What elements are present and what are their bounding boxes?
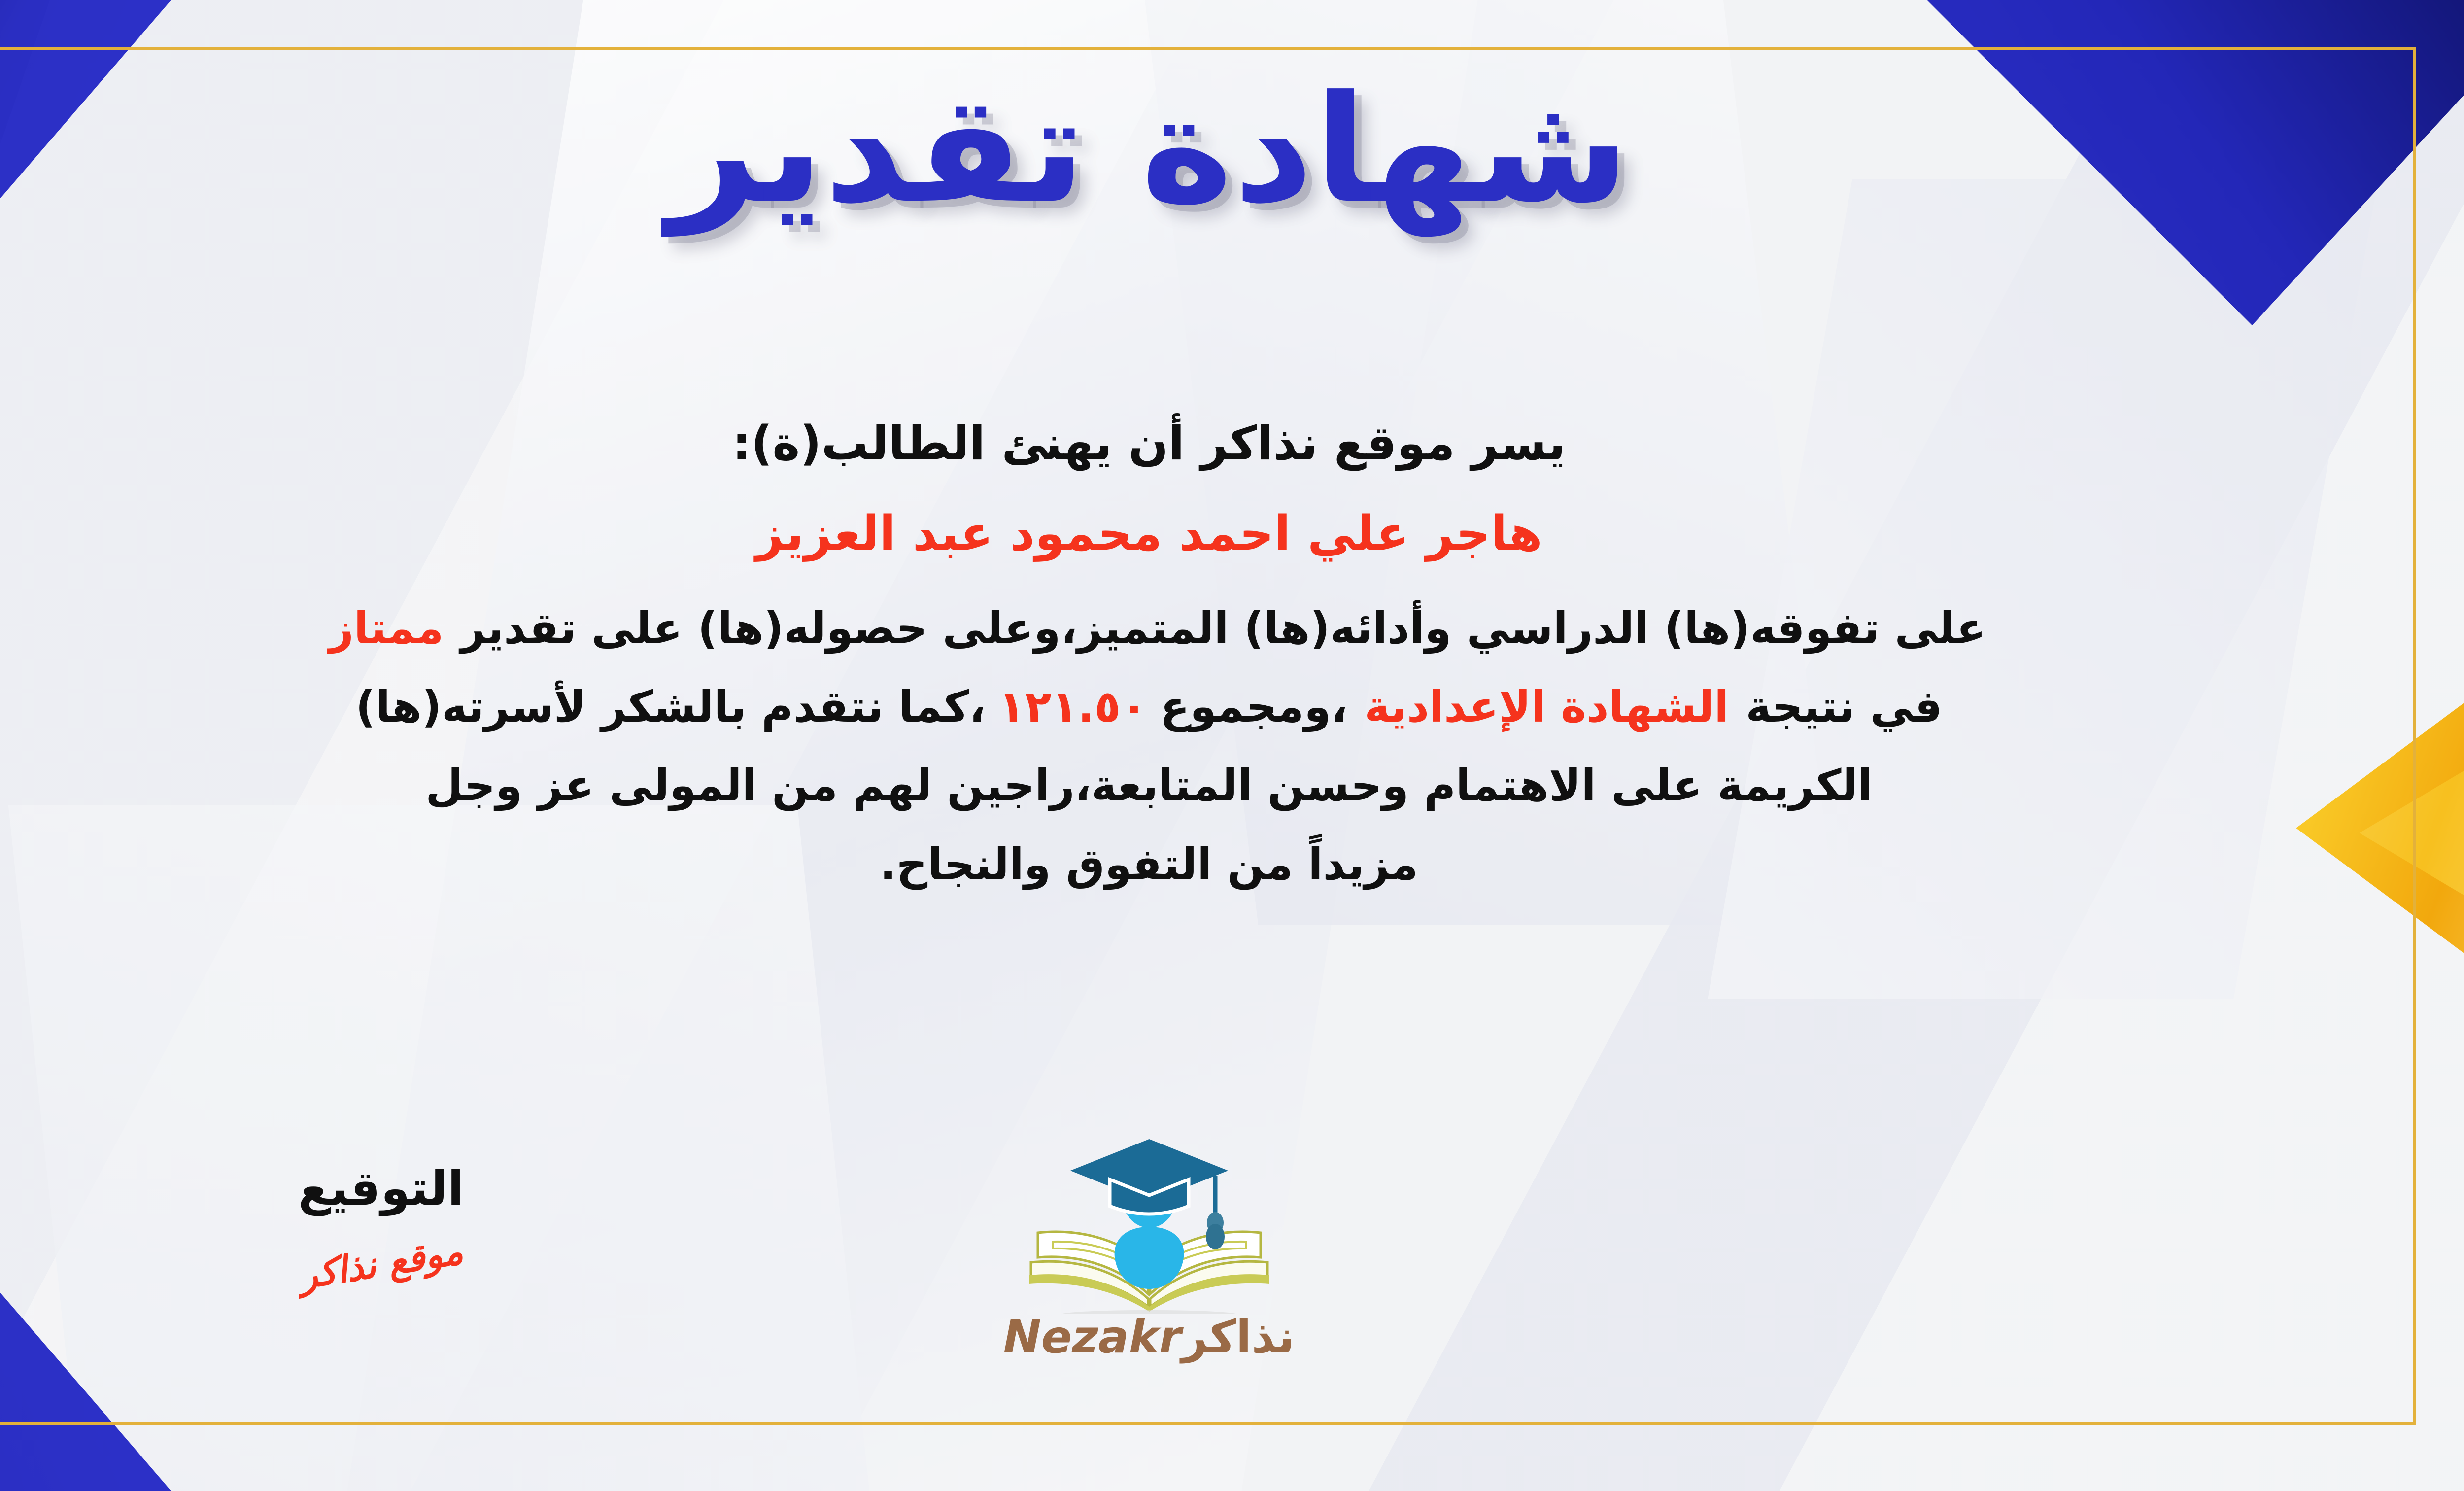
certificate-page: شهادة تقدير يسر موقع نذاكر أن يهنئ الطال… xyxy=(0,0,2464,1491)
student-name: هاجر علي احمد محمود عبد العزيز xyxy=(0,498,2351,570)
thanks-text: ،كما نتقدم بالشكر لأسرته(ها) xyxy=(356,681,986,732)
achievement-text: على تفوقه(ها) الدراسي وأدائه(ها) المتميز… xyxy=(460,603,1985,654)
certificate-title: شهادة تقدير xyxy=(668,57,1630,242)
exam-result-line: في نتيجةالشهادة الإعدادية،ومجموع١٢١.٥٠،ك… xyxy=(0,674,2351,740)
site-logo-block: نذاكرNezakr xyxy=(962,1131,1336,1363)
signature-label: التوقيع xyxy=(208,1161,553,1216)
certificate-body: يسر موقع نذاكر أن يهنئ الطالب(ة): هاجر ع… xyxy=(0,409,2351,910)
logo-wordmark: نذاكرNezakr xyxy=(962,1311,1336,1363)
certificate-footer: التوقيع موقع نذاكر xyxy=(0,1131,2464,1407)
grade-value: ممتاز xyxy=(312,603,460,654)
exam-prefix-text: في نتيجة xyxy=(1745,681,1942,732)
family-thanks-line: الكريمة على الاهتمام وحسن المتابعة،راجين… xyxy=(0,753,2351,819)
total-score-value: ١٢١.٥٠ xyxy=(986,674,1160,740)
total-prefix-text: ،ومجموع xyxy=(1160,681,1347,732)
logo-icon-group xyxy=(1016,1131,1282,1314)
signature-block: التوقيع موقع نذاكر xyxy=(208,1161,553,1285)
logo-arabic-name: نذاكر xyxy=(1181,1311,1295,1363)
exam-name-value: الشهادة الإعدادية xyxy=(1347,681,1745,732)
closing-wish-line: مزيداً من التفوق والنجاح. xyxy=(0,832,2351,898)
achievement-line: على تفوقه(ها) الدراسي وأدائه(ها) المتميز… xyxy=(0,595,2351,661)
signature-handwritten: موقع نذاكر xyxy=(296,1230,466,1297)
certificate-title-wrapper: شهادة تقدير xyxy=(0,57,2464,242)
logo-latin-name: Nezakr xyxy=(1003,1311,1182,1363)
intro-line: يسر موقع نذاكر أن يهنئ الطالب(ة): xyxy=(0,409,2351,479)
